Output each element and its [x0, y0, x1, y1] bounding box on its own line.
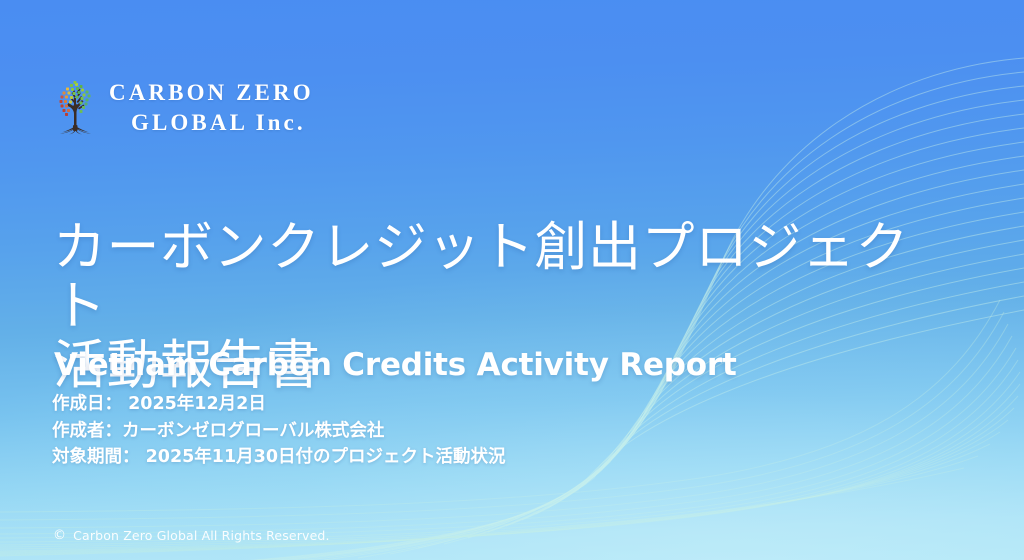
logo-line-1: CARBON ZERO	[109, 81, 314, 104]
meta-period: 対象期間： 2025年11月30日付のプロジェクト活動状況	[52, 444, 506, 471]
document-meta: 作成日： 2025年12月2日 作成者：カーボンゼログローバル株式会社 対象期間…	[52, 391, 506, 471]
title-slide: CARBON ZERO GLOBAL Inc. カーボンクレジット創出プロジェク…	[0, 0, 1024, 560]
page-title-line-1: カーボンクレジット創出プロジェクト	[53, 218, 953, 336]
meta-author: 作成者：カーボンゼログローバル株式会社	[52, 418, 506, 445]
page-subtitle-english: Vietnam Carbon Credits Activity Report	[54, 347, 737, 383]
footer-copyright: © Carbon Zero Global All Rights Reserved…	[53, 528, 330, 543]
copyright-icon: ©	[53, 529, 66, 542]
tree-icon	[52, 78, 100, 136]
company-logo: CARBON ZERO GLOBAL Inc.	[52, 78, 314, 136]
logo-line-2: GLOBAL Inc.	[109, 111, 314, 134]
logo-wordmark: CARBON ZERO GLOBAL Inc.	[109, 81, 314, 134]
copyright-text: Carbon Zero Global All Rights Reserved.	[73, 528, 329, 543]
meta-created-date: 作成日： 2025年12月2日	[52, 391, 506, 418]
